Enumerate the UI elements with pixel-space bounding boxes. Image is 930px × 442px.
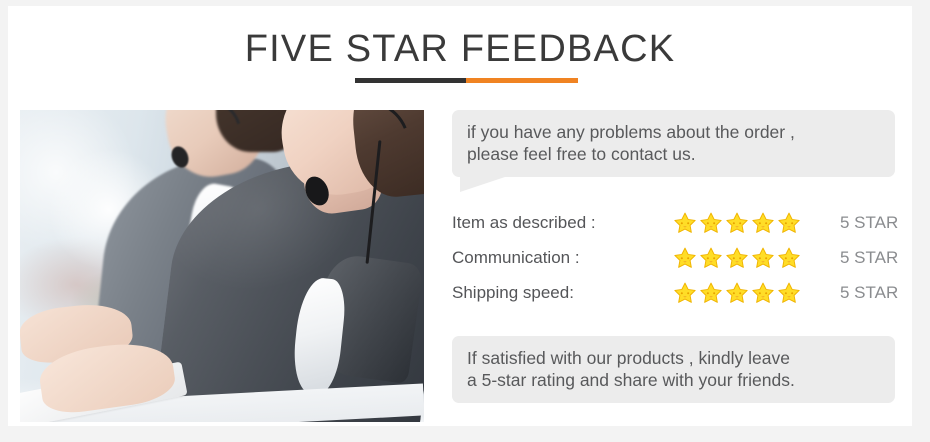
star-icon xyxy=(726,282,748,304)
rating-value: 5 STAR xyxy=(812,248,898,268)
feedback-banner: FIVE STAR FEEDBACK xyxy=(0,0,930,442)
star-icon xyxy=(752,247,774,269)
rating-label: Shipping speed: xyxy=(452,283,674,303)
rating-row: Item as described : 5 STAR xyxy=(452,205,904,240)
contact-line-2: please feel free to contact us. xyxy=(467,143,895,165)
title-underline xyxy=(355,78,578,83)
note-line-1: If satisfied with our products , kindly … xyxy=(467,347,895,369)
rating-row: Communication : 5 STAR xyxy=(452,240,904,275)
star-icon xyxy=(674,247,696,269)
star-icon xyxy=(778,282,800,304)
star-rating xyxy=(674,212,812,234)
star-icon xyxy=(700,212,722,234)
feedback-content: if you have any problems about the order… xyxy=(452,110,904,403)
star-icon xyxy=(752,282,774,304)
rating-label: Item as described : xyxy=(452,213,674,233)
star-icon xyxy=(726,247,748,269)
star-icon xyxy=(778,247,800,269)
underline-accent-segment xyxy=(466,78,578,83)
note-line-2: a 5-star rating and share with your frie… xyxy=(467,369,895,391)
star-icon xyxy=(674,212,696,234)
star-icon xyxy=(752,212,774,234)
star-icon xyxy=(700,282,722,304)
star-rating xyxy=(674,247,812,269)
speech-bubble-tail xyxy=(460,176,508,192)
banner-card: FIVE STAR FEEDBACK xyxy=(8,6,912,426)
underline-dark-segment xyxy=(355,78,466,83)
contact-speech-bubble: if you have any problems about the order… xyxy=(452,110,895,177)
rating-value: 5 STAR xyxy=(812,283,898,303)
rating-value: 5 STAR xyxy=(812,213,898,233)
star-icon xyxy=(726,212,748,234)
star-icon xyxy=(700,247,722,269)
rating-row: Shipping speed: 5 STAR xyxy=(452,275,904,310)
call-center-photo xyxy=(20,110,424,422)
star-icon xyxy=(674,282,696,304)
satisfaction-note: If satisfied with our products , kindly … xyxy=(452,336,895,403)
page-title: FIVE STAR FEEDBACK xyxy=(8,28,912,71)
star-rating xyxy=(674,282,812,304)
star-icon xyxy=(778,212,800,234)
rating-label: Communication : xyxy=(452,248,674,268)
banner-header: FIVE STAR FEEDBACK xyxy=(8,6,912,102)
contact-line-1: if you have any problems about the order… xyxy=(467,121,895,143)
ratings-list: Item as described : 5 STAR Communication… xyxy=(452,205,904,310)
